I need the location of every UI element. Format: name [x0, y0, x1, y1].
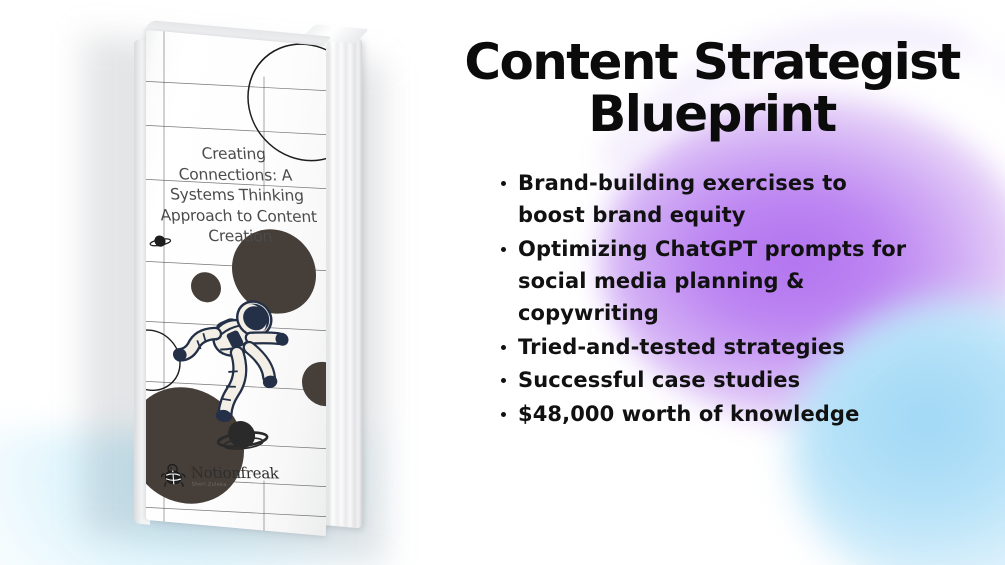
headline-line-1: Content Strategist: [464, 33, 959, 91]
turtle-icon: [159, 463, 187, 489]
logo-subtitle: Sheri Zuleka: [192, 482, 280, 488]
promo-canvas: Creating Connections: A Systems Thinking…: [0, 0, 1005, 565]
list-item: Brand-building exercises to boost brand …: [500, 168, 912, 232]
headline-line-2: Blueprint: [588, 85, 835, 143]
list-item: Successful case studies: [500, 365, 912, 397]
book-cover-logo: Notionfreak Sheri Zuleka: [159, 463, 313, 491]
benefits-list: Brand-building exercises to boost brand …: [432, 168, 992, 431]
book-cover-artwork: [146, 30, 326, 536]
page-title: Content Strategist Blueprint: [432, 36, 992, 140]
list-item: $48,000 worth of knowledge: [500, 399, 912, 431]
content-panel: Content Strategist Blueprint Brand-build…: [432, 36, 992, 433]
list-item: Tried-and-tested strategies: [500, 332, 912, 364]
book-cover-title: Creating Connections: A Systems Thinking…: [150, 143, 324, 248]
list-item: Optimizing ChatGPT prompts for social me…: [500, 234, 912, 330]
logo-name: Notionfreak: [190, 465, 279, 481]
book-mockup: Creating Connections: A Systems Thinking…: [62, 18, 402, 553]
book-front-cover: Creating Connections: A Systems Thinking…: [146, 30, 326, 536]
